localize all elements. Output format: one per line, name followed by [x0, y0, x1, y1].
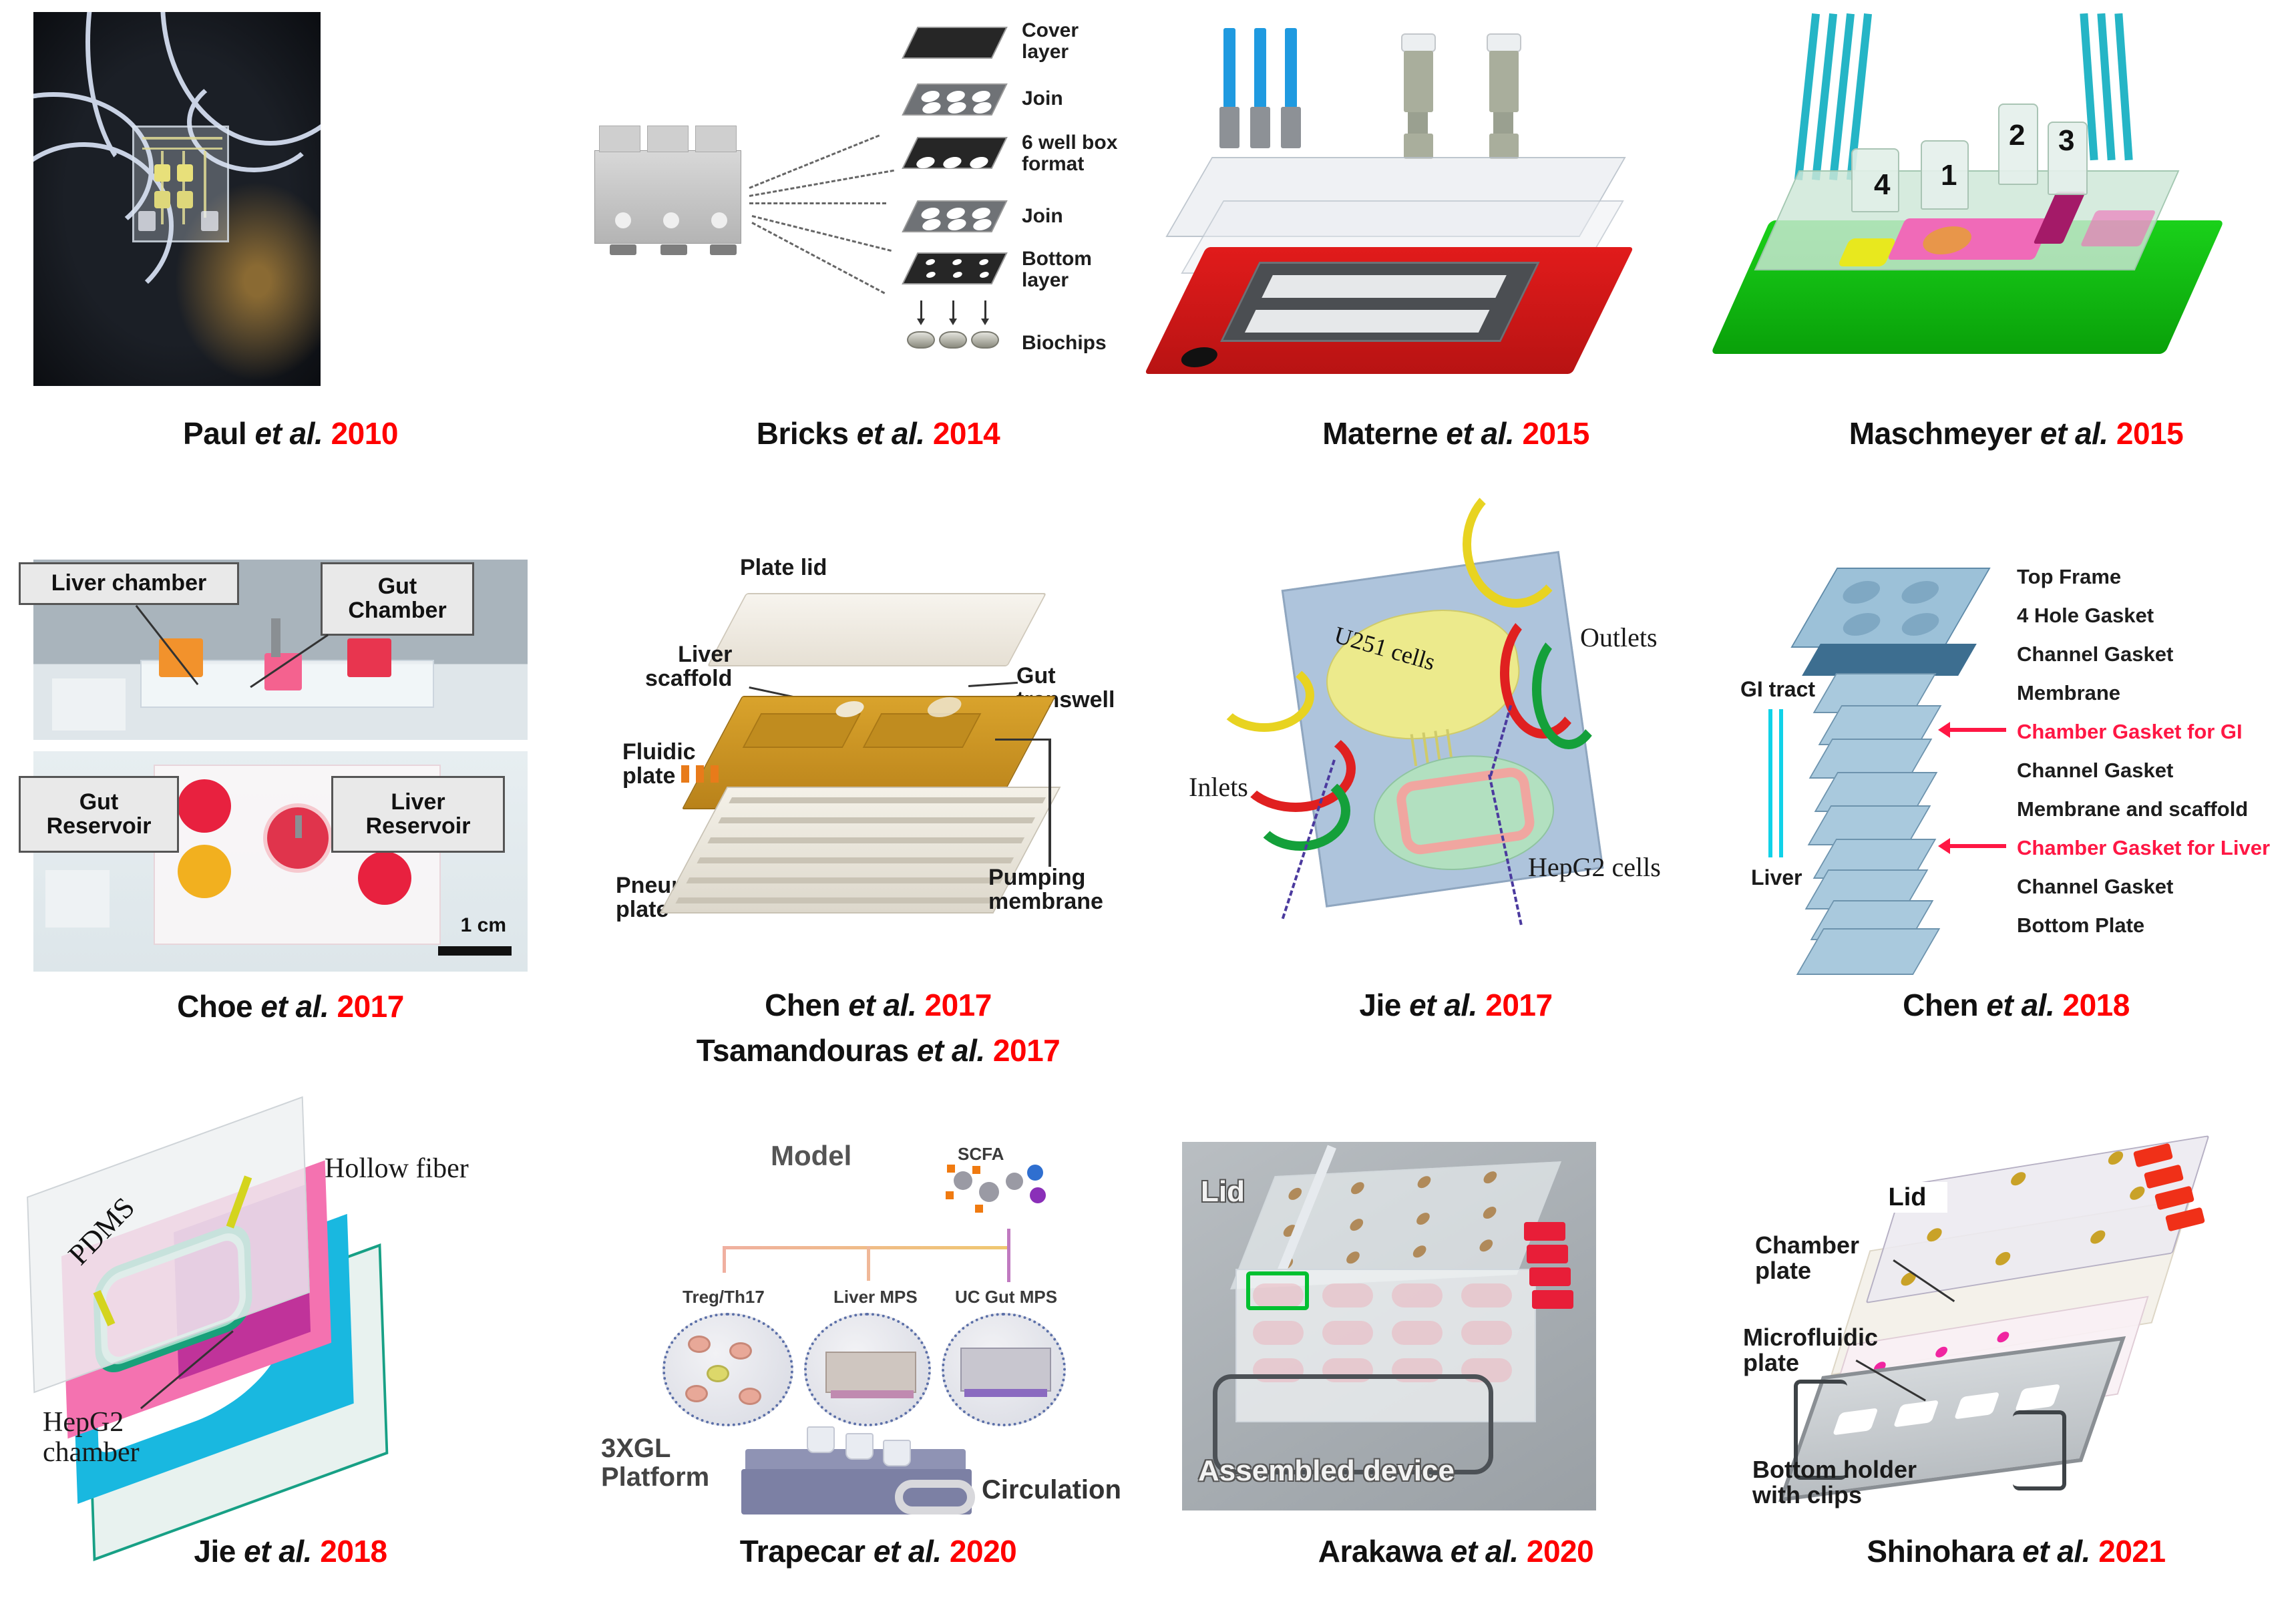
choe-label-liver-chamber: Liver chamber [19, 562, 239, 605]
caption-author: Choe [177, 989, 260, 1024]
jie2017-tube-yellow-out [1463, 481, 1569, 608]
trapecar-scfa-node-2 [979, 1182, 999, 1202]
trapecar-label-3xgl-platform: 3XGL Platform [601, 1434, 709, 1492]
caption-year: 2018 [2054, 988, 2130, 1022]
materne-screw-connector-2 [1483, 33, 1529, 160]
caption-author: Chen [765, 988, 848, 1022]
bricks-layer-join-bottom [902, 200, 1007, 232]
shinohara-label-bottom-holder: Bottom holder with clips [1752, 1457, 1917, 1508]
arakawa-tube-rack [1524, 1222, 1571, 1322]
chen2018-flow-arrow-up [1779, 709, 1783, 857]
bricks-exploded-diagram: Cover layer Join 6 well box for [581, 0, 1175, 401]
panel-paul-2010: Paul et al. 2010 [0, 0, 581, 541]
caption-trapecar-2020: Trapecar et al. 2020 [581, 1533, 1175, 1569]
caption-author: Jie [194, 1534, 244, 1569]
bricks-layer-bottom [902, 252, 1007, 284]
panel-shinohara-2021: Lid [1736, 1135, 2296, 1618]
maschmeyer-chamber-label-1: 1 [1941, 159, 1957, 192]
bricks-label-6well-box-format: 6 well box format [1022, 132, 1117, 176]
bricks-layer-join-top [902, 83, 1007, 116]
trapecar-label-uc-gut-mps: UC Gut MPS [955, 1287, 1057, 1306]
chen2018-flow-arrow-down [1768, 709, 1772, 857]
caption-year-2: 2017 [985, 1033, 1061, 1068]
caption-jie-2017: Jie et al. 2017 [1175, 987, 1736, 1023]
figure-row-1: Paul et al. 2010 [0, 0, 2296, 541]
shinohara-label-chamber-plate: Chamber plate [1755, 1233, 1859, 1283]
panel-bricks-2014: Cover layer Join 6 well box for [581, 0, 1175, 541]
maschmeyer-tube-7 [2114, 13, 2132, 160]
caption-chen-2018: Chen et al. 2018 [1736, 987, 2296, 1023]
maschmeyer-cad-render: 4 1 2 3 [1736, 0, 2296, 401]
caption-year: 2017 [1477, 988, 1553, 1022]
caption-etal-2: et al. [917, 1033, 985, 1068]
panel-jie-2018: PDMS Hollow fiber HepG2 chamber Jie et a… [0, 1135, 581, 1618]
maschmeyer-chamber-label-4: 4 [1874, 168, 1890, 202]
caption-etal: et al. [1446, 416, 1514, 451]
choe-label-gut-chamber: Gut Chamber [321, 562, 474, 636]
caption-etal: et al. [1451, 1534, 1519, 1569]
panel-materne-2015: Materne et al. 2015 [1175, 0, 1736, 541]
chen2018-label-gi-tract: GI tract [1740, 678, 1815, 701]
caption-etal: et al. [848, 988, 916, 1022]
arakawa-device-photo: Lid Assembled device [1182, 1142, 1596, 1510]
caption-arakawa-2020: Arakawa et al. 2020 [1175, 1533, 1736, 1569]
caption-year: 2021 [2090, 1534, 2166, 1569]
caption-year: 2015 [2108, 416, 2184, 451]
trapecar-scfa-node-1 [954, 1171, 972, 1190]
materne-tube-3 [1285, 28, 1297, 108]
caption-author: Materne [1322, 416, 1446, 451]
caption-year: 2018 [312, 1534, 387, 1569]
jie2017-tube-green-in [1250, 771, 1350, 851]
caption-author: Paul [183, 416, 254, 451]
jie2017-u251-region [1318, 599, 1528, 752]
chen2018-exploded-diagram: GI tract Liver Top Frame 4 Hole Gasket C… [1736, 541, 2296, 968]
trapecar-label-scfa: SCFA [958, 1145, 1004, 1163]
choe-scalebar [438, 946, 512, 956]
chen2017-label-plate-lid: Plate lid [740, 556, 827, 580]
bricks-label-join-bottom: Join [1022, 206, 1063, 227]
panel-chen-2018: GI tract Liver Top Frame 4 Hole Gasket C… [1736, 541, 2296, 1135]
trapecar-well-3 [883, 1440, 911, 1466]
bricks-layer-cover [902, 27, 1007, 59]
shinohara-clip-right [2013, 1410, 2066, 1490]
chen2018-layer-9: Bottom Plate [2017, 915, 2270, 954]
panel-chen-2017: Plate lid Liver scaffold Gut transwell F… [581, 541, 1175, 1135]
caption-etal: et al. [1409, 988, 1477, 1022]
caption-etal: et al. [254, 416, 323, 451]
chen2018-label-liver: Liver [1751, 867, 1802, 889]
caption-bricks-2014: Bricks et al. 2014 [581, 415, 1175, 451]
shinohara-label-lid: Lid [1867, 1182, 1947, 1213]
jie2018-label-hepg2-chamber: HepG2 chamber [43, 1408, 140, 1467]
chen2018-top-frame-side [1802, 644, 1977, 676]
bricks-label-biochips: Biochips [1022, 333, 1107, 354]
chen2017-exploded-diagram: Plate lid Liver scaffold Gut transwell F… [581, 541, 1175, 968]
caption-chen-2017: Chen et al. 2017 [581, 987, 1175, 1023]
caption-author: Maschmeyer [1849, 416, 2040, 451]
trapecar-scfa-node-3 [1006, 1173, 1023, 1190]
trapecar-circulation-loop [895, 1480, 975, 1514]
caption-year: 2017 [329, 989, 404, 1024]
chen2018-top-frame [1790, 568, 1990, 648]
jie2018-schematic: PDMS Hollow fiber HepG2 chamber [0, 1135, 581, 1523]
caption-author: Chen [1903, 988, 1986, 1022]
chen2018-layer-7: Chamber Gasket for Liver [2017, 837, 2270, 876]
caption-year: 2020 [942, 1534, 1017, 1569]
trapecar-well-2 [845, 1433, 874, 1460]
panel-trapecar-2020: Model SCFA Treg/Th17 Liver MPS [581, 1135, 1175, 1618]
caption-jie-2018: Jie et al. 2018 [0, 1533, 581, 1569]
bricks-biochip-1 [907, 331, 935, 349]
maschmeyer-chamber-label-3: 3 [2058, 124, 2074, 158]
bricks-label-bottom-layer: Bottom layer [1022, 248, 1092, 292]
caption-etal: et al. [2040, 416, 2108, 451]
shinohara-label-microfluidic-plate: Microfluidic plate [1743, 1325, 1878, 1376]
chen2017-label-pumping-membrane: Pumping membrane [988, 865, 1103, 914]
figure-grid: Paul et al. 2010 [0, 0, 2296, 1618]
trapecar-bubble-uc-gut-mps [942, 1313, 1066, 1426]
chen2018-pointer-gi [1949, 728, 2006, 732]
paul-microfluidic-chip [132, 126, 229, 242]
trapecar-scfa-node-4 [1027, 1165, 1043, 1181]
caption-etal: et al. [857, 416, 925, 451]
bricks-biochip-3 [971, 331, 999, 349]
caption-author: Shinohara [1867, 1534, 2022, 1569]
caption-year: 2020 [1519, 1534, 1594, 1569]
caption-etal: et al. [1986, 988, 2054, 1022]
trapecar-scfa-node-5 [1030, 1187, 1046, 1203]
maschmeyer-tube-6 [2097, 13, 2115, 160]
trapecar-bubble-liver-mps [804, 1313, 931, 1426]
chen2018-layer-3: Membrane [2017, 682, 2270, 721]
choe-photographs: Liver chamber Gut Chamber 1 cm [0, 541, 581, 968]
materne-screw-connector-1 [1397, 33, 1444, 160]
panel-choe-2017: Liver chamber Gut Chamber 1 cm [0, 541, 581, 1135]
chen2017-plate-lid [707, 593, 1046, 666]
arakawa-label-lid: Lid [1201, 1175, 1245, 1209]
jie2018-label-hollow-fiber: Hollow fiber [325, 1154, 469, 1184]
maschmeyer-chamber-label-2: 2 [2009, 119, 2025, 152]
caption-choe-2017: Choe et al. 2017 [0, 988, 581, 1024]
figure-row-3: PDMS Hollow fiber HepG2 chamber Jie et a… [0, 1135, 2296, 1618]
caption-author: Bricks [757, 416, 857, 451]
bricks-assembled-module [594, 150, 741, 244]
arakawa-photograph: Lid Assembled device [1175, 1135, 1736, 1523]
bricks-layer-6well [902, 137, 1007, 169]
caption-maschmeyer-2015: Maschmeyer et al. 2015 [1736, 415, 2296, 451]
panel-maschmeyer-2015: 4 1 2 3 Maschmeyer et al. 2015 [1736, 0, 2296, 541]
caption-year: 2010 [323, 416, 398, 451]
caption-etal: et al. [244, 1534, 312, 1569]
choe-label-gut-reservoir: Gut Reservoir [19, 776, 179, 853]
trapecar-label-model: Model [771, 1141, 851, 1171]
caption-year: 2014 [925, 416, 1000, 451]
trapecar-label-circulation: Circulation [982, 1476, 1121, 1504]
bricks-label-join-top: Join [1022, 88, 1063, 110]
chen2017-label-liver-scaffold: Liver scaffold [645, 642, 732, 690]
arakawa-label-assembled-device: Assembled device [1198, 1454, 1455, 1488]
caption-materne-2015: Materne et al. 2015 [1175, 415, 1736, 451]
caption-tsamandouras-2017: Tsamandouras et al. 2017 [581, 1032, 1175, 1068]
jie2017-label-outlets: Outlets [1580, 624, 1658, 652]
materne-tube-2 [1254, 28, 1266, 108]
caption-paul-2010: Paul et al. 2010 [0, 415, 581, 451]
jie2017-label-inlets: Inlets [1189, 773, 1248, 801]
caption-author: Trapecar [740, 1534, 874, 1569]
chen2018-layer-4: Chamber Gasket for GI [2017, 721, 2270, 760]
bricks-label-cover-layer: Cover layer [1022, 20, 1079, 63]
chen2018-layer-2: Channel Gasket [2017, 644, 2270, 682]
trapecar-well-1 [807, 1426, 835, 1453]
caption-author: Arakawa [1318, 1534, 1451, 1569]
paul-photograph [0, 0, 581, 401]
caption-author: Jie [1359, 988, 1409, 1022]
caption-year: 2017 [916, 988, 992, 1022]
arakawa-highlight-box [1246, 1271, 1309, 1310]
paul-device-photo [33, 12, 321, 386]
jie2017-schematic: U251 cells Inlets Outlets HepG2 cells [1175, 541, 1736, 968]
panel-jie-2017: U251 cells Inlets Outlets HepG2 cells [1175, 541, 1736, 1135]
chen2018-layer-6: Membrane and scaffold [2017, 799, 2270, 837]
materne-cad-render [1175, 0, 1736, 401]
chen2018-pointer-liver [1949, 844, 2006, 848]
trapecar-schematic: Model SCFA Treg/Th17 Liver MPS [581, 1135, 1175, 1523]
jie2017-label-hepg2-cells: HepG2 cells [1528, 853, 1661, 881]
chen2018-layer-8: Channel Gasket [2017, 876, 2270, 915]
caption-author-2: Tsamandouras [697, 1033, 917, 1068]
chen2018-layer-list: Top Frame 4 Hole Gasket Channel Gasket M… [2017, 566, 2270, 954]
trapecar-label-treg-th17: Treg/Th17 [683, 1287, 765, 1306]
trapecar-bubble-treg-th17 [662, 1313, 793, 1426]
materne-tube-1 [1223, 28, 1235, 108]
caption-shinohara-2021: Shinohara et al. 2021 [1736, 1533, 2296, 1569]
chen2018-layer-1: 4 Hole Gasket [2017, 605, 2270, 644]
caption-etal: et al. [2022, 1534, 2090, 1569]
choe-label-liver-reservoir: Liver Reservoir [331, 776, 505, 853]
caption-year: 2015 [1514, 416, 1589, 451]
trapecar-label-liver-mps: Liver MPS [833, 1287, 918, 1306]
chen2018-layer-5: Channel Gasket [2017, 760, 2270, 799]
jie2017-tube-yellow-in [1214, 658, 1314, 732]
materne-red-base [1145, 247, 1634, 374]
trapecar-bus-line [723, 1246, 1010, 1249]
choe-scalebar-label: 1 cm [461, 914, 506, 937]
figure-row-2: Liver chamber Gut Chamber 1 cm [0, 541, 2296, 1135]
chen2018-layer-0: Top Frame [2017, 566, 2270, 605]
caption-etal: et al. [260, 989, 329, 1024]
panel-arakawa-2020: Lid Assembled device Arakawa et al. 2020 [1175, 1135, 1736, 1618]
shinohara-photograph: Lid [1736, 1135, 2296, 1523]
caption-etal: et al. [874, 1534, 942, 1569]
bricks-biochip-2 [939, 331, 967, 349]
